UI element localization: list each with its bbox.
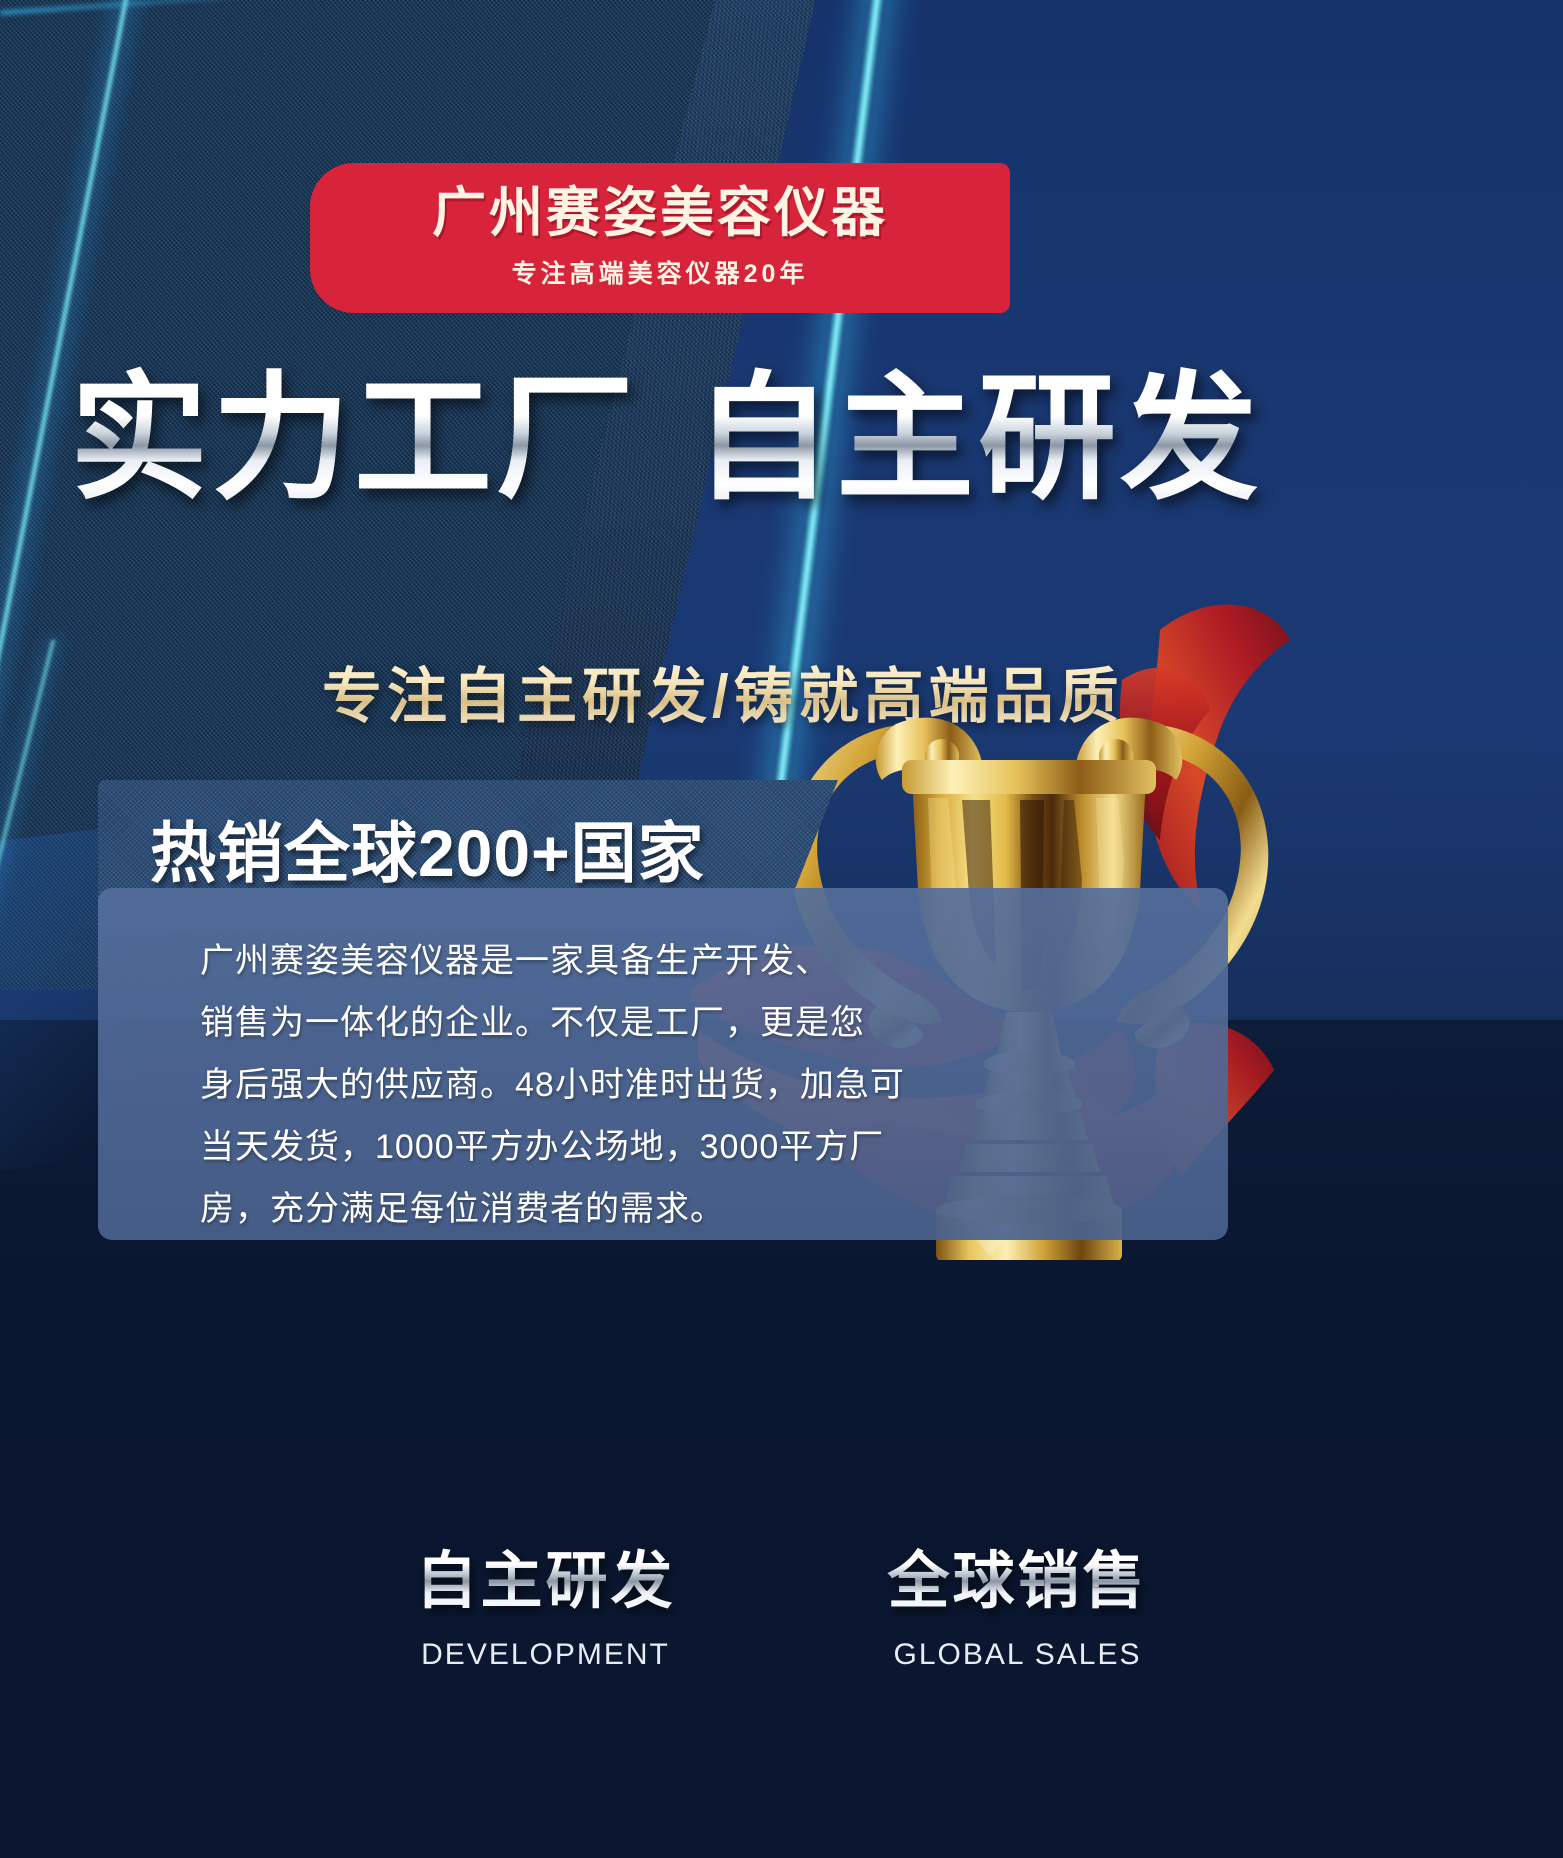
feature-title-en: DEVELOPMENT	[396, 1638, 696, 1672]
headline-part-1: 实力工厂	[70, 362, 638, 516]
description-line: 销售为一体化的企业。不仅是工厂，更是您	[200, 992, 920, 1054]
feature-title-cn: 全球销售	[868, 1530, 1168, 1620]
hot-sell-label: 热销全球200+国家	[150, 800, 705, 896]
brand-badge-subtitle: 专注高端美容仪器20年	[512, 254, 809, 290]
page-title: 实力工厂自主研发	[70, 365, 1330, 514]
description-line: 当天发货，1000平方办公场地，3000平方厂	[200, 1116, 920, 1178]
feature-item-development: 自主研发 DEVELOPMENT	[396, 1530, 696, 1672]
feature-item-global-sales: 全球销售 GLOBAL SALES	[868, 1530, 1168, 1672]
feature-title-cn: 自主研发	[396, 1530, 696, 1620]
description-line: 房，充分满足每位消费者的需求。	[200, 1178, 920, 1240]
description-text: 广州赛姿美容仪器是一家具备生产开发、 销售为一体化的企业。不仅是工厂，更是您 身…	[200, 930, 920, 1240]
feature-title-en: GLOBAL SALES	[868, 1638, 1168, 1672]
description-line: 身后强大的供应商。48小时准时出货，加急可	[200, 1054, 920, 1116]
description-line: 广州赛姿美容仪器是一家具备生产开发、	[200, 930, 920, 992]
headline-part-2: 自主研发	[694, 362, 1262, 516]
brand-badge-title: 广州赛姿美容仪器	[432, 186, 888, 240]
promo-poster: 广州赛姿美容仪器 专注高端美容仪器20年 实力工厂自主研发 专注自主研发/铸就高…	[0, 0, 1563, 1858]
brand-badge: 广州赛姿美容仪器 专注高端美容仪器20年	[310, 163, 1010, 313]
feature-list: 自主研发 DEVELOPMENT 全球销售 GLOBAL SALES	[0, 1530, 1563, 1672]
